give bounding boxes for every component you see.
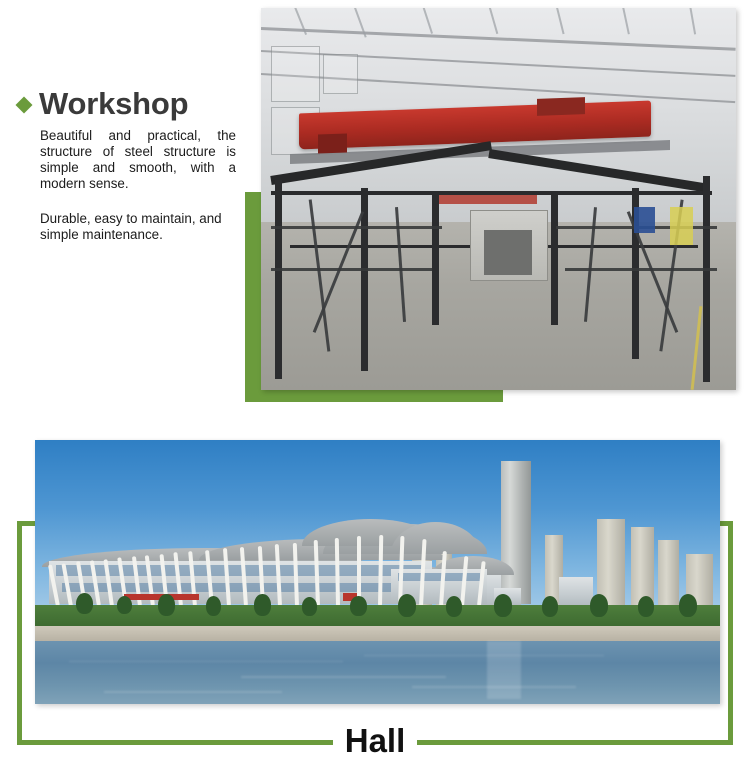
workshop-text-block: Workshop Beautiful and practical, the st… [18, 88, 240, 243]
hall-section: Hall [0, 420, 750, 779]
hall-caption-text: Hall [333, 724, 418, 757]
workshop-section: Workshop Beautiful and practical, the st… [0, 0, 750, 420]
workshop-photo [261, 8, 736, 390]
hall-photo [35, 440, 720, 704]
diamond-bullet-icon [16, 96, 33, 113]
workshop-title: Workshop [39, 88, 188, 119]
workshop-heading-row: Workshop [18, 88, 240, 119]
hall-photo-artwork [35, 440, 720, 704]
workshop-paragraph-1: Beautiful and practical, the structure o… [40, 128, 236, 192]
hall-caption: Hall [0, 721, 750, 754]
slide-page: Workshop Beautiful and practical, the st… [0, 0, 750, 779]
workshop-photo-artwork [261, 8, 736, 390]
workshop-paragraph-2: Durable, easy to maintain, and simple ma… [40, 211, 236, 243]
